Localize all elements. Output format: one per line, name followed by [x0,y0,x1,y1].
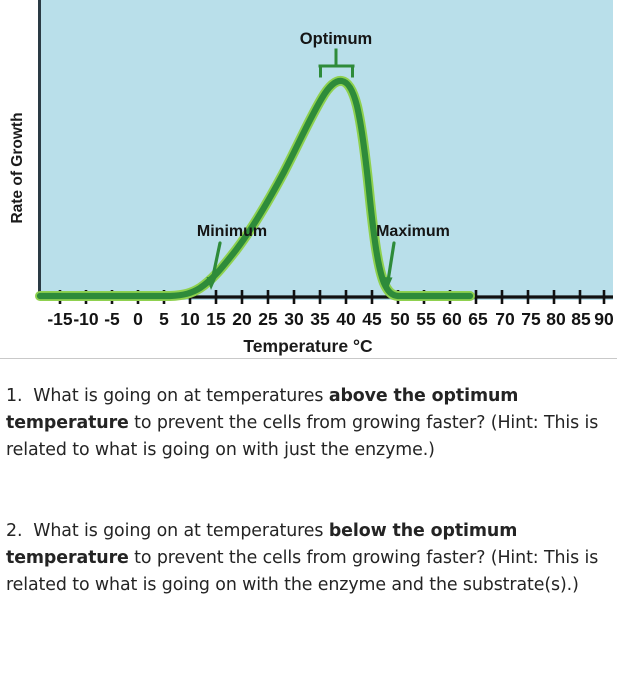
question-number: 2. [6,521,22,541]
question-item: 1. What is going on at temperatures abov… [6,383,611,464]
question-text-part1: What is going on at temperatures [33,386,329,406]
x-tick-label: 30 [284,309,304,329]
optimum-label: Optimum [300,30,372,48]
maximum-label: Maximum [376,223,450,240]
growth-temperature-figure: Optimum Minimum Maximum -15 -10 -5 0 5 1… [0,0,617,358]
x-tick-label: 85 [571,309,591,329]
x-tick-labels: -15 -10 -5 0 5 10 15 20 25 30 35 40 45 5… [47,309,614,329]
questions-list: 1. What is going on at temperatures abov… [0,366,617,617]
x-tick-label: -10 [73,309,99,329]
x-tick-label: 45 [362,309,382,329]
question-item: 2. What is going on at temperatures belo… [6,518,611,599]
x-tick-label: 60 [442,309,462,329]
x-tick-label: 5 [159,309,169,329]
x-tick-label: -5 [104,309,120,329]
question-number: 1. [6,386,22,406]
x-tick-label: 80 [546,309,566,329]
x-tick-label: 15 [206,309,226,329]
x-axis-title: Temperature °C [243,336,373,356]
section-divider [0,358,617,359]
x-tick-label: -15 [47,309,73,329]
x-tick-label: 70 [495,309,515,329]
x-tick-label: 25 [258,309,278,329]
x-tick-label: 75 [521,309,541,329]
y-axis-title: Rate of Growth [9,112,26,223]
rate-of-growth-vs-temperature-chart: Optimum Minimum Maximum -15 -10 -5 0 5 1… [0,0,617,358]
x-tick-label: 0 [133,309,143,329]
x-tick-label: 90 [594,309,614,329]
x-tick-label: 10 [180,309,200,329]
minimum-label: Minimum [197,223,267,240]
x-tick-label: 20 [232,309,252,329]
x-tick-label: 35 [310,309,330,329]
x-tick-label: 50 [390,309,410,329]
x-tick-label: 65 [468,309,488,329]
x-tick-label: 55 [416,309,436,329]
x-tick-label: 40 [336,309,356,329]
question-text-part1: What is going on at temperatures [33,521,329,541]
